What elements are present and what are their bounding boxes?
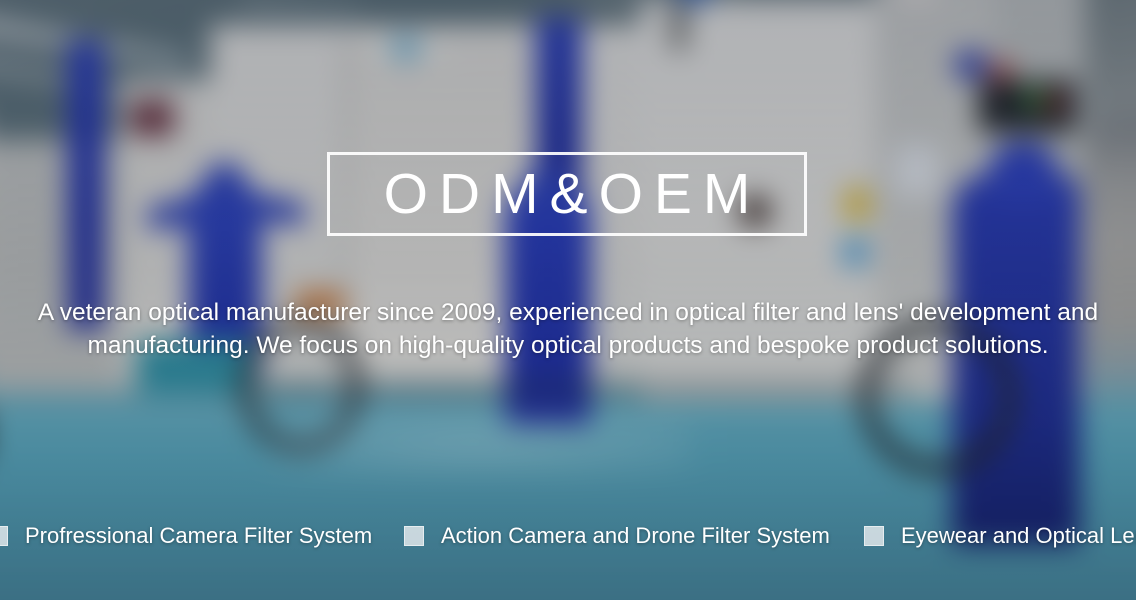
feature-label: Eyewear and Optical Lens: [901, 524, 1136, 548]
title-frame: ODM&OEM: [327, 152, 807, 236]
square-marker-icon: [404, 526, 424, 546]
feature-item-camera-filter[interactable]: Profressional Camera Filter System: [0, 524, 372, 548]
square-marker-icon: [0, 526, 8, 546]
feature-label: Profressional Camera Filter System: [25, 524, 372, 548]
hero-banner: ODM&OEM A veteran optical manufacturer s…: [0, 0, 1136, 600]
feature-item-action-drone-filter[interactable]: Action Camera and Drone Filter System: [404, 524, 830, 548]
banner-subtitle: A veteran optical manufacturer since 200…: [0, 296, 1136, 362]
feature-list: Profressional Camera Filter System Actio…: [0, 524, 1136, 564]
square-marker-icon: [864, 526, 884, 546]
feature-item-eyewear-optical-lens[interactable]: Eyewear and Optical Lens: [864, 524, 1136, 548]
page-title: ODM&OEM: [373, 166, 762, 223]
banner-content: ODM&OEM A veteran optical manufacturer s…: [0, 0, 1136, 600]
feature-label: Action Camera and Drone Filter System: [441, 524, 830, 548]
